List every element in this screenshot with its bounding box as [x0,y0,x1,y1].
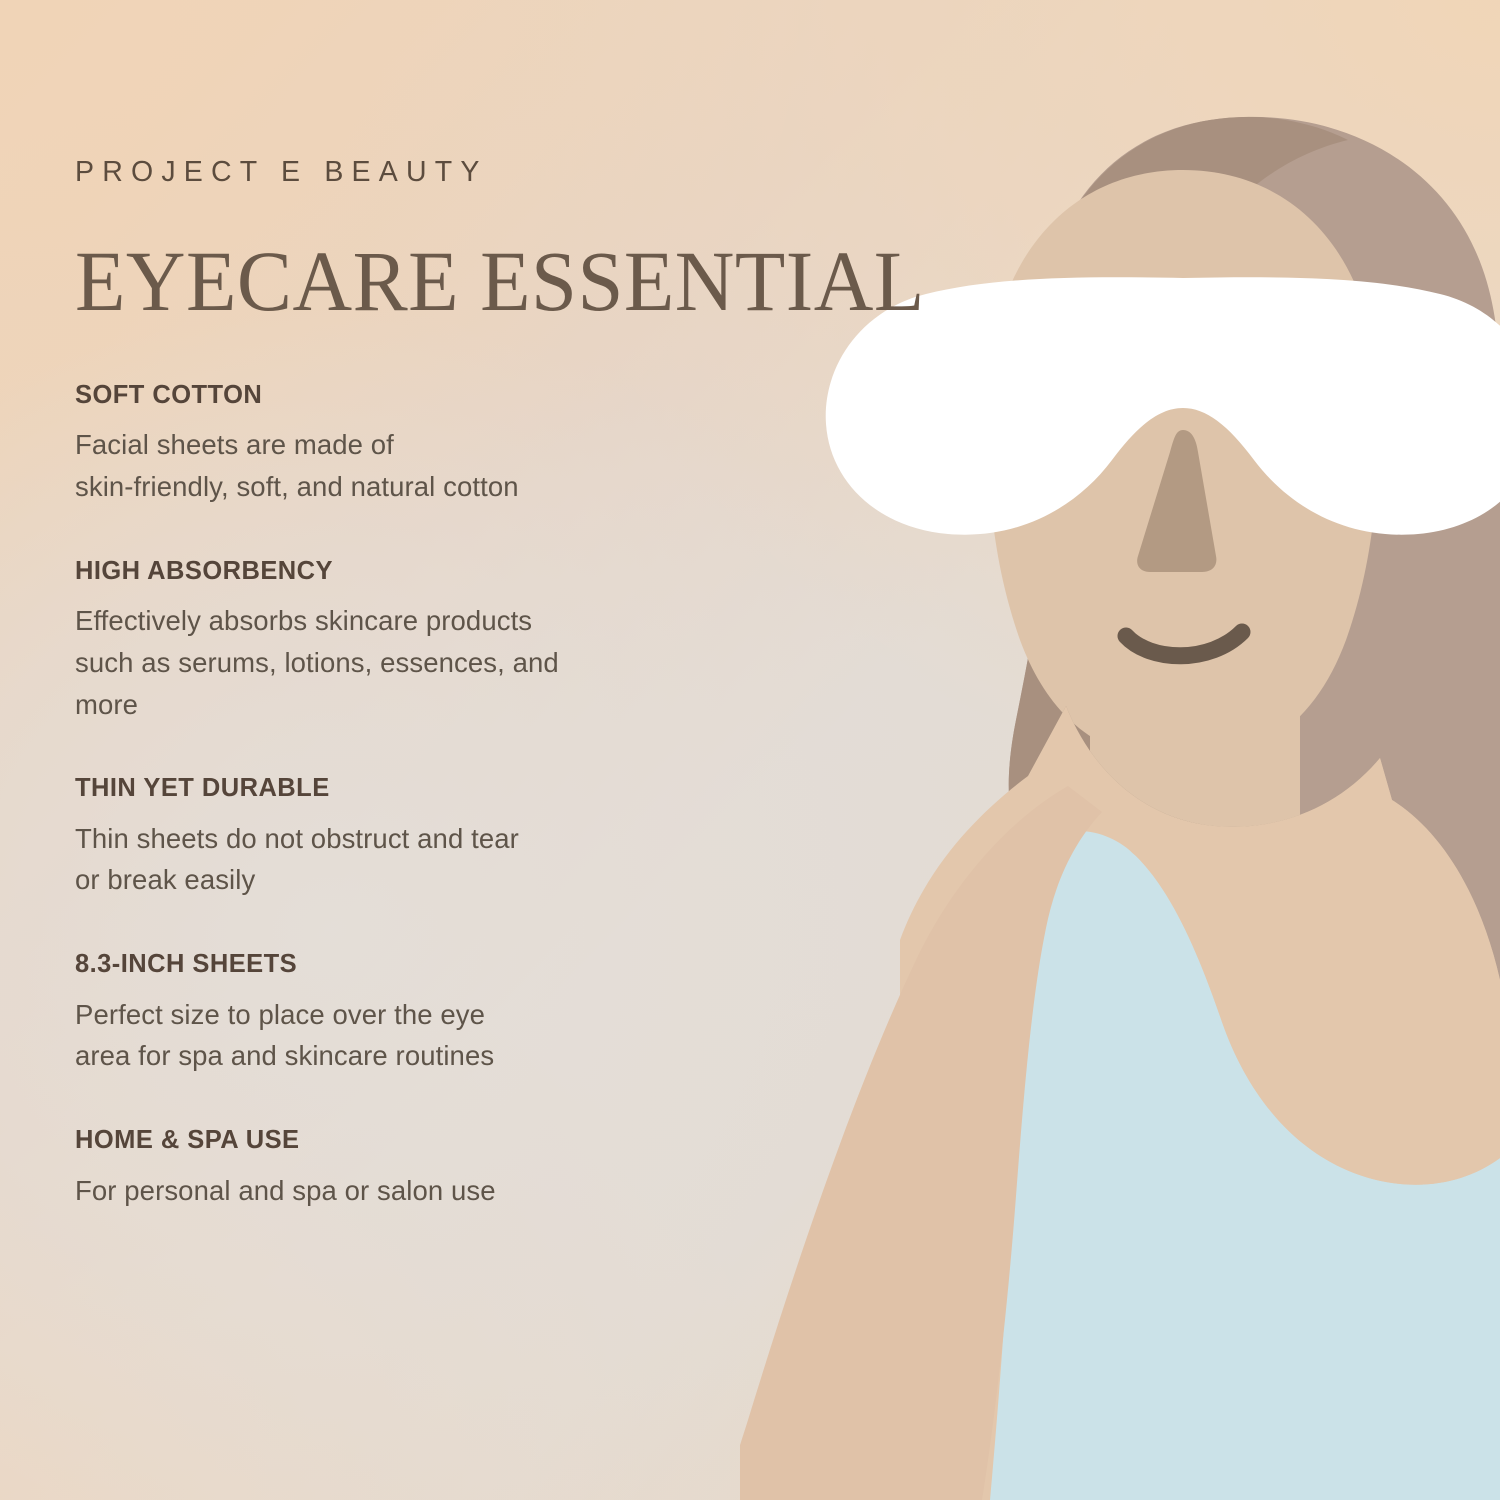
feature-line: more [75,684,695,726]
page-title: EYECARE ESSENTIAL [75,239,689,323]
feature-item: HOME & SPA USE For personal and spa or s… [75,1126,715,1211]
feature-heading: THIN YET DURABLE [75,774,715,803]
feature-description: Effectively absorbs skincare products su… [75,600,695,725]
feature-list: SOFT COTTON Facial sheets are made of sk… [75,381,715,1212]
feature-line: For personal and spa or salon use [75,1170,695,1212]
feature-item: THIN YET DURABLE Thin sheets do not obst… [75,774,715,901]
feature-line: area for spa and skincare routines [75,1035,695,1077]
feature-line: Effectively absorbs skincare products [75,600,695,642]
feature-heading: HOME & SPA USE [75,1126,715,1155]
feature-item: 8.3-INCH SHEETS Perfect size to place ov… [75,950,715,1077]
feature-item: SOFT COTTON Facial sheets are made of sk… [75,381,715,508]
brand-name: PROJECT E BEAUTY [75,158,715,187]
feature-description: Facial sheets are made of skin-friendly,… [75,424,695,508]
infographic-canvas: PROJECT E BEAUTY EYECARE ESSENTIAL SOFT … [0,0,1500,1500]
feature-line: or break easily [75,859,695,901]
feature-description: Thin sheets do not obstruct and tear or … [75,818,695,902]
feature-description: Perfect size to place over the eye area … [75,994,695,1078]
text-column: PROJECT E BEAUTY EYECARE ESSENTIAL SOFT … [75,0,715,1211]
feature-line: Perfect size to place over the eye [75,994,695,1036]
feature-line: skin-friendly, soft, and natural cotton [75,466,695,508]
illustration-woman-eye-mask [740,0,1500,1500]
feature-description: For personal and spa or salon use [75,1170,695,1212]
feature-line: such as serums, lotions, essences, and [75,642,695,684]
feature-heading: 8.3-INCH SHEETS [75,950,715,979]
feature-line: Facial sheets are made of [75,424,695,466]
feature-heading: SOFT COTTON [75,381,715,410]
feature-item: HIGH ABSORBENCY Effectively absorbs skin… [75,557,715,726]
feature-heading: HIGH ABSORBENCY [75,557,715,586]
feature-line: Thin sheets do not obstruct and tear [75,818,695,860]
